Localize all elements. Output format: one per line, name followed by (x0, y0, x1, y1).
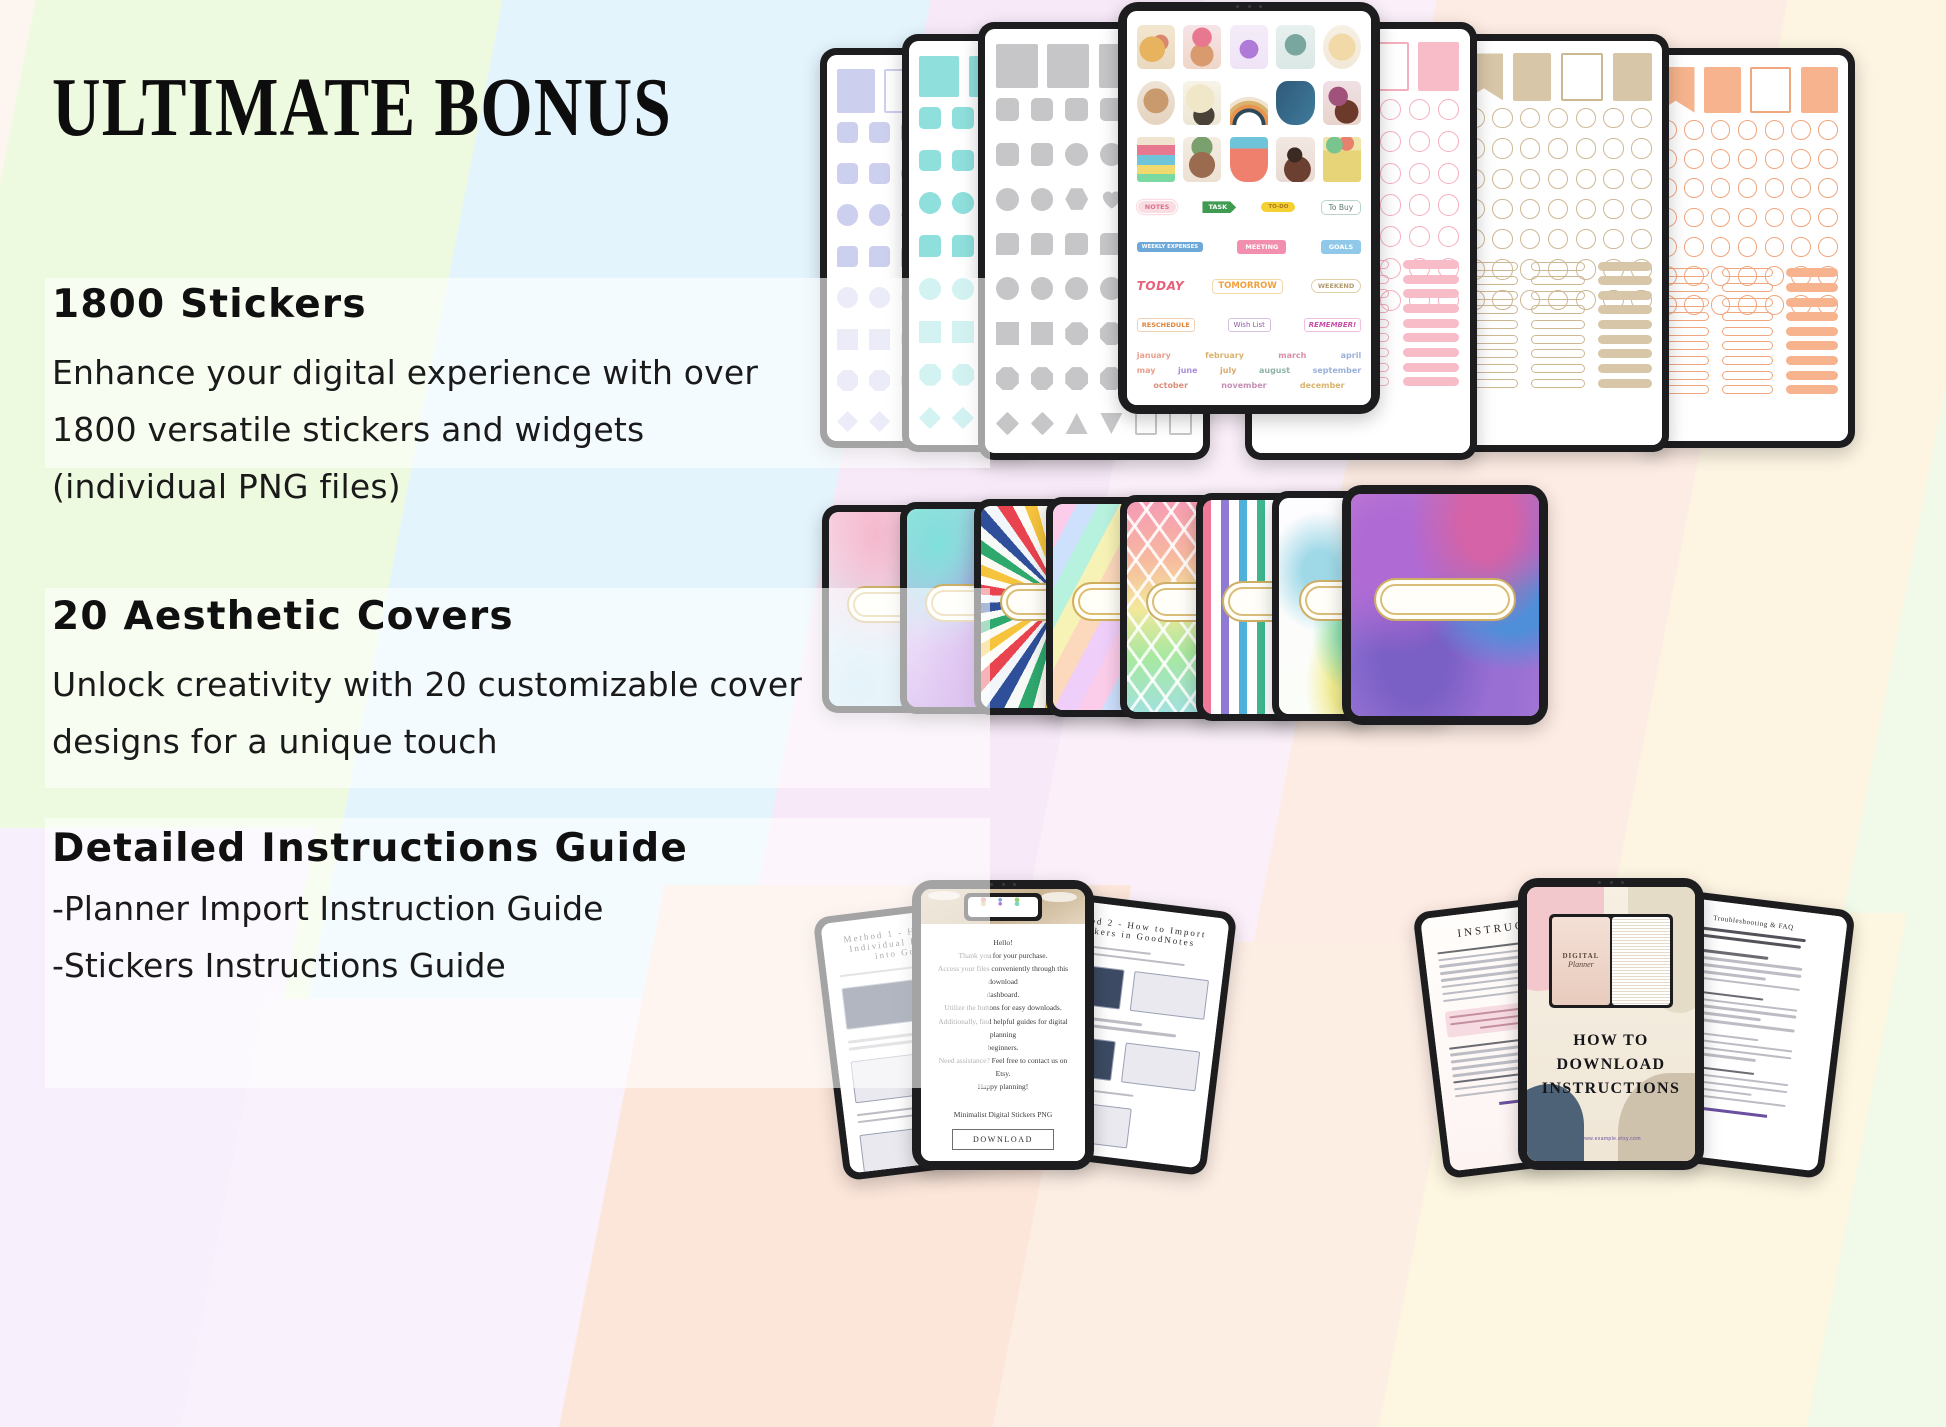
sticker-rainbow-arch (1230, 81, 1268, 125)
sticker-weekend: WEEKEND (1311, 279, 1361, 293)
sticker-month-march: march (1278, 351, 1306, 360)
feature-instructions-list: -Planner Import Instruction Guide -Stick… (52, 881, 688, 995)
sticker-months-row-2: may june july august september (1137, 366, 1362, 375)
sticker-reading-in-chair (1137, 25, 1175, 69)
sticker-sheet-colorful: NOTES TASK TO-DO To Buy WEEKLY EXPENSES … (1127, 11, 1371, 405)
preview-subtitle: Planner (1568, 960, 1594, 969)
sticker-banner-goals: GOALS (1321, 240, 1362, 254)
sticker-birthday-cake (1137, 137, 1175, 181)
sticker-stretching-girl (1230, 25, 1268, 69)
sticker-dancing-figure (1276, 137, 1314, 181)
sticker-label-tobuy: To Buy (1321, 200, 1362, 215)
sticker-month-february: february (1205, 351, 1244, 360)
feature-stickers-body: Enhance your digital experience with ove… (52, 345, 812, 515)
tablet-sticker-featured[interactable]: NOTES TASK TO-DO To Buy WEEKLY EXPENSES … (1118, 2, 1380, 414)
feature-instructions-heading: Detailed Instructions Guide (52, 826, 688, 871)
sticker-wish-list: Wish List (1228, 318, 1271, 332)
sticker-flower-crown-girl (1183, 25, 1221, 69)
feature-covers-body: Unlock creativity with 20 customizable c… (52, 657, 812, 771)
tablet-cover-purple-alcohol-ink[interactable] (1342, 485, 1548, 725)
sticker-deer-with-flowers (1183, 137, 1221, 181)
sticker-month-november: november (1221, 381, 1266, 390)
tablet-sticker-tan[interactable] (1447, 34, 1669, 452)
preview-title: DIGITAL (1562, 952, 1599, 960)
sticker-months-row-1: january february march april (1137, 351, 1362, 360)
list-item: -Stickers Instructions Guide (52, 938, 688, 995)
sticker-month-october: october (1153, 381, 1188, 390)
sticker-today: TODAY (1137, 279, 1184, 293)
tablet-sticker-peach[interactable] (1640, 48, 1855, 448)
sticker-tomorrow: TOMORROW (1212, 279, 1282, 294)
sticker-dumbbell (1230, 137, 1268, 181)
sticker-banner-meeting: MEETING (1237, 240, 1286, 254)
tablet-how-to-download[interactable]: DIGITAL Planner HOW TO DOWNLOAD INSTRUCT… (1518, 878, 1704, 1170)
sticker-yoga-girl (1276, 25, 1314, 69)
sticker-month-april: april (1341, 351, 1362, 360)
sticker-label-task: TASK (1202, 201, 1236, 213)
camera-dots (1236, 5, 1262, 8)
feature-list-column: ULTIMATE BONUS 1800 Stickers Enhance you… (0, 0, 1000, 1427)
sticker-yoga-pose (1323, 81, 1361, 125)
cover-title-plate (1374, 578, 1517, 620)
sticker-months-row-3: october november december (1137, 381, 1362, 390)
howto-title: HOW TO DOWNLOAD INSTRUCTIONS (1537, 1029, 1685, 1101)
list-item: -Planner Import Instruction Guide (52, 881, 688, 938)
sticker-lounging-figure (1183, 81, 1221, 125)
feature-covers: 20 Aesthetic Covers Unlock creativity wi… (52, 594, 812, 771)
howto-title-line-2: DOWNLOAD (1537, 1053, 1685, 1077)
sticker-grocery-bag (1323, 137, 1361, 181)
cover-purple-alcohol-ink-marble (1351, 494, 1539, 716)
page-title: ULTIMATE BONUS (52, 68, 672, 148)
sticker-banner-weekly-expenses: WEEKLY EXPENSES (1137, 242, 1203, 252)
sticker-month-december: december (1300, 381, 1345, 390)
howto-title-line-1: HOW TO (1537, 1029, 1685, 1053)
sticker-sheet-peach (1647, 55, 1848, 441)
sticker-remember: REMEMBER! (1304, 318, 1362, 332)
sticker-month-june: june (1178, 366, 1198, 375)
sticker-game-controller (1276, 81, 1314, 125)
feature-stickers-heading: 1800 Stickers (52, 282, 812, 327)
product-mockups-column: NOTES TASK TO-DO To Buy WEEKLY EXPENSES … (1000, 0, 1946, 1427)
sticker-month-may: may (1137, 366, 1156, 375)
preview-sticker-page (1612, 917, 1670, 1004)
plate-icon (1041, 892, 1077, 903)
feature-covers-heading: 20 Aesthetic Covers (52, 594, 812, 639)
feature-instructions: Detailed Instructions Guide -Planner Imp… (52, 826, 688, 995)
sticker-month-july: july (1220, 366, 1236, 375)
camera-dots (1598, 881, 1624, 884)
watermark: www.example.etsy.com (1527, 1136, 1695, 1142)
sticker-month-august: august (1259, 366, 1290, 375)
how-to-download-cover: DIGITAL Planner HOW TO DOWNLOAD INSTRUCT… (1527, 887, 1695, 1161)
howto-title-line-3: INSTRUCTIONS (1537, 1077, 1685, 1101)
sticker-breakfast-plate (1323, 25, 1361, 69)
planner-preview: DIGITAL Planner (1549, 914, 1673, 1007)
sticker-month-september: september (1313, 366, 1362, 375)
sticker-label-todo: TO-DO (1261, 202, 1295, 212)
sticker-label-notes: NOTES (1137, 200, 1178, 214)
sticker-latte-cup (1137, 81, 1175, 125)
feature-stickers: 1800 Stickers Enhance your digital exper… (52, 282, 812, 515)
sticker-month-january: january (1137, 351, 1171, 360)
sticker-sheet-tan (1454, 41, 1662, 445)
sticker-reschedule: RESCHEDULE (1137, 318, 1195, 332)
